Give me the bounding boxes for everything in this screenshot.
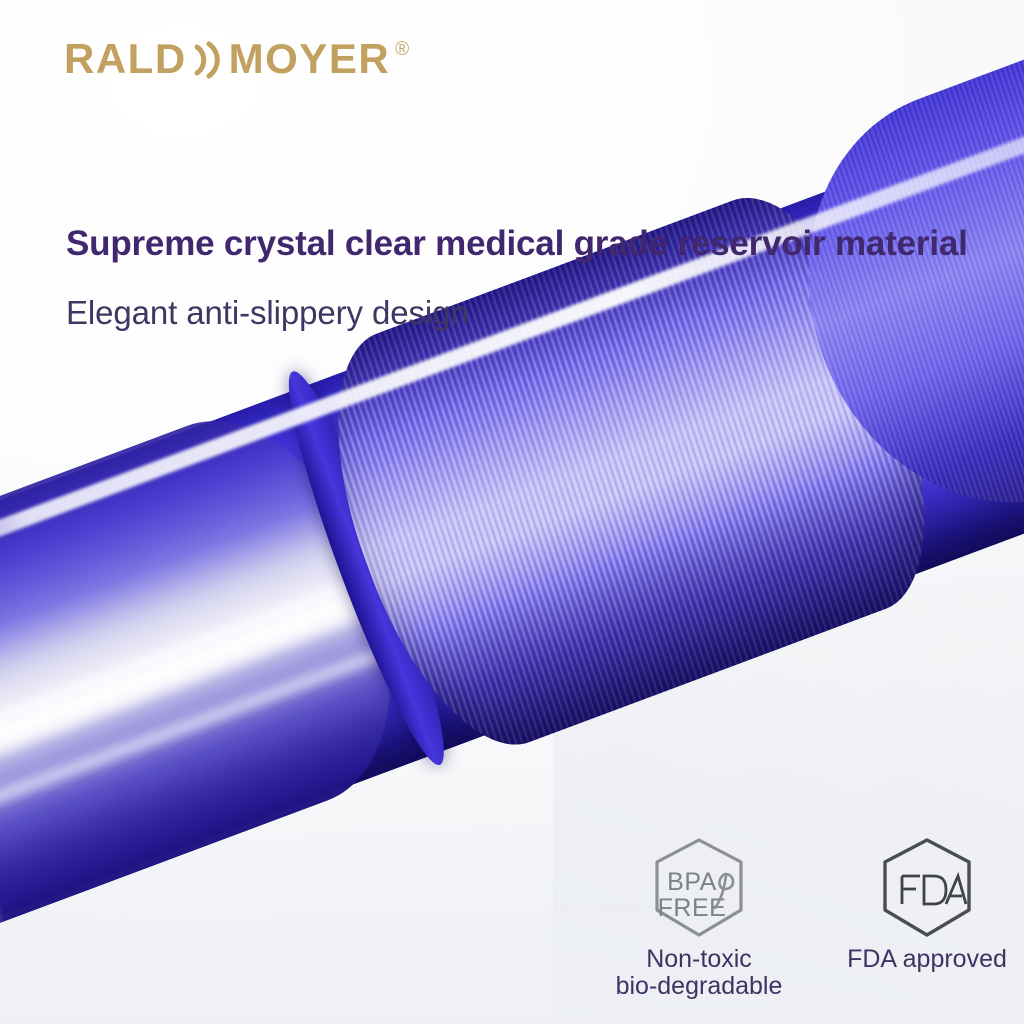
badge-fda-caption: FDA approved: [847, 946, 1007, 973]
fda-icon: [874, 836, 980, 940]
subheadline: Elegant anti-slippery design: [66, 294, 469, 332]
registered-trademark-icon: ®: [395, 40, 409, 59]
brand-name-left: RALD: [64, 38, 187, 80]
brand-name-right: MOYER: [229, 38, 391, 80]
badge-bpa-free: BPA FREE Non-toxic bio-degradable: [614, 836, 784, 1000]
brand-logo: RALD MOYER ®: [64, 38, 409, 85]
headline: Supreme crystal clear medical grade rese…: [66, 224, 968, 264]
certification-badges: BPA FREE Non-toxic bio-degradable: [614, 836, 1014, 1000]
badge-bpa-caption: Non-toxic bio-degradable: [616, 946, 783, 1000]
svg-text:BPA: BPA: [667, 868, 717, 896]
signal-wave-icon: [189, 39, 223, 86]
badge-fda: FDA approved: [842, 836, 1012, 973]
bpa-free-icon: BPA FREE: [646, 836, 752, 940]
product-marketing-banner: RALD MOYER ® Supreme crystal clear medic…: [0, 0, 1024, 1024]
